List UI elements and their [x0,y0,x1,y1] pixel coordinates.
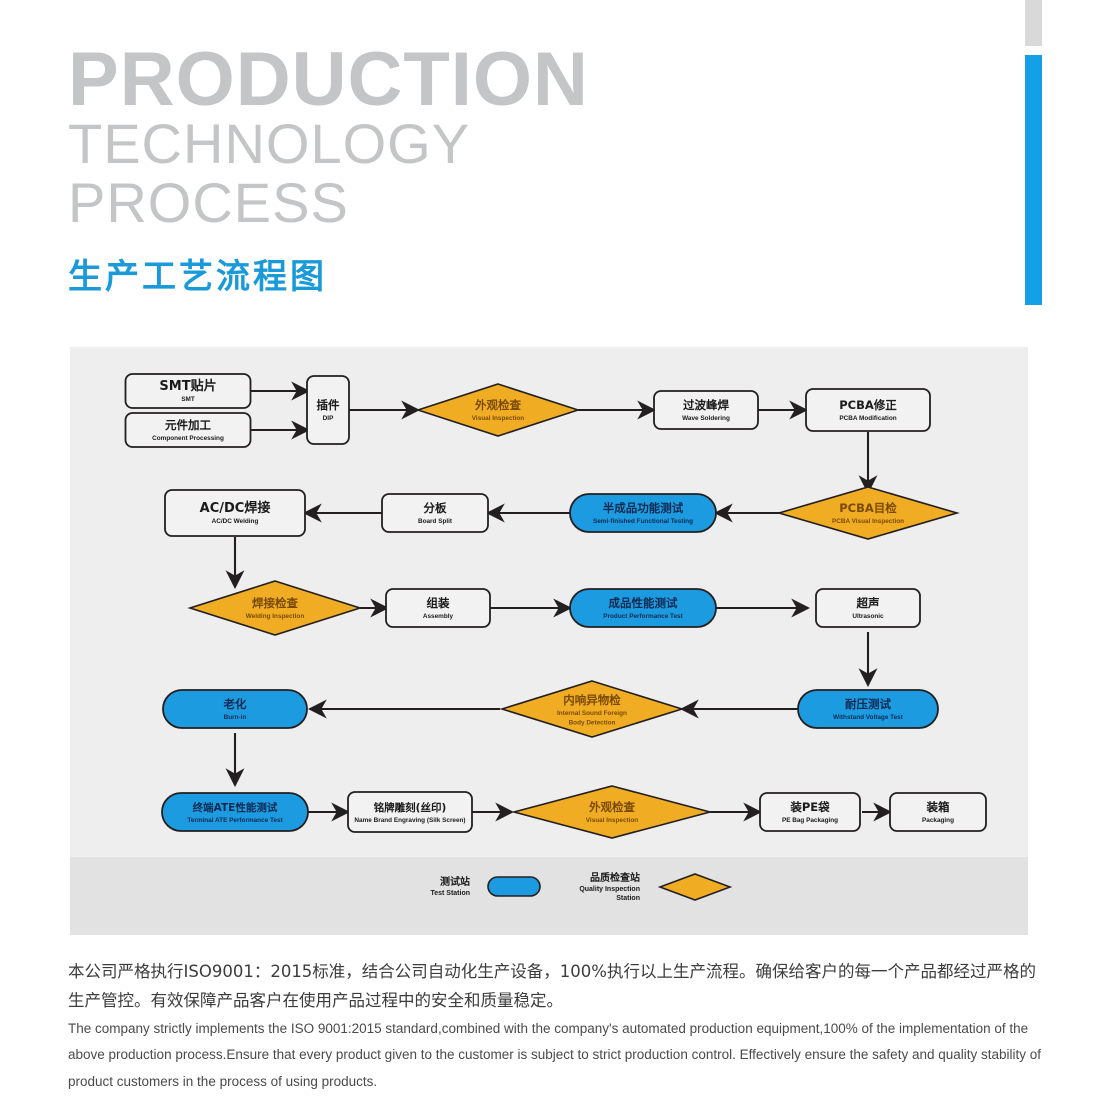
flow-node-packaging[interactable]: 装箱Packaging [890,793,986,831]
flow-node-smt[interactable]: SMT贴片SMT [126,374,251,408]
node-label-cn: 耐压测试 [845,697,891,711]
flow-node-withstand[interactable]: 耐压测试Withstand Voltage Test [798,690,938,728]
node-label-en: Board Split [418,518,453,525]
node-label-en: Packaging [922,817,954,824]
node-label-cn: SMT贴片 [159,378,216,394]
flow-node-ultra[interactable]: 超声Ultrasonic [816,589,920,627]
legend-test-pill [488,877,540,896]
decision-diamond [502,681,682,737]
node-label-en: Visual Inspection [586,817,639,824]
node-label-cn: 组装 [427,596,450,610]
node-label-en: Product Performance Test [603,613,683,620]
node-label-en: SMT [181,396,195,403]
flow-node-visual2[interactable]: 外观检查Visual Inspection [514,786,710,838]
flow-node-pcbavis[interactable]: PCBA目检PCBA Visual Inspection [779,487,957,539]
flow-node-semifunc[interactable]: 半成品功能测试Semi-finished Functional Testing [570,494,716,532]
flow-node-dip[interactable]: 插件DIP [307,376,349,444]
flow-node-assembly[interactable]: 组装Assembly [386,589,490,627]
flow-node-ate[interactable]: 终端ATE性能测试Terminal ATE Performance Test [162,793,308,831]
node-label-en: Name Brand Engraving (Silk Screen) [354,817,465,824]
flow-node-pebag[interactable]: 装PE袋PE Bag Packaging [760,793,860,831]
legend-nodes: 测试站Test Station品质检查站Quality InspectionSt… [430,871,730,902]
flow-node-engrave[interactable]: 铭牌雕刻(丝印)Name Brand Engraving (Silk Scree… [348,792,472,832]
node-label-cn: 内响异物检 [563,693,621,707]
legend-label-en: Station [616,895,640,902]
node-label-cn: 超声 [856,596,880,610]
node-label-en: PE Bag Packaging [782,817,838,824]
heading-subtitle-chinese: 生产工艺流程图 [68,249,968,298]
legend-label-en: Test Station [430,890,470,897]
flow-node-pcbamod[interactable]: PCBA修正PCBA Modification [806,389,930,431]
flow-node-visual1[interactable]: 外观检查Visual Inspection [418,384,578,436]
flow-node-boardsplit[interactable]: 分板Board Split [382,494,488,532]
node-label-en: PCBA Visual Inspection [832,518,904,525]
node-label-cn: 外观检查 [474,398,521,412]
node-label-en: Visual Inspection [472,415,525,422]
node-label-en: Burn-in [224,714,247,721]
node-label-en: Internal Sound Foreign [557,710,627,717]
node-label-cn: 焊接检查 [252,596,298,610]
node-label-cn: 外观检查 [588,800,635,814]
node-label-en: DIP [323,415,334,422]
node-label-en: Welding Inspection [246,613,305,620]
node-label-cn: 装箱 [926,800,950,814]
node-label-en: Semi-finished Functional Testing [593,518,693,525]
node-label-en: Wave Soldering [682,415,730,422]
node-label-en: Ultrasonic [852,613,884,620]
node-label-cn: 铭牌雕刻(丝印) [374,801,447,814]
legend-label-cn: 测试站 [440,875,470,888]
page-heading: PRODUCTION TECHNOLOGY PROCESS 生产工艺流程图 [68,45,968,298]
node-label-cn: PCBA修正 [839,398,897,412]
node-label-en: Assembly [423,613,454,620]
legend-label-en: Quality Inspection [579,886,640,893]
flowchart-svg: SMT贴片SMT元件加工Component Processing插件DIP外观检… [70,347,1028,935]
flow-node-perf[interactable]: 成品性能测试Product Performance Test [570,589,716,627]
node-label-cn: 成品性能测试 [609,596,678,610]
accent-bar-gray [1025,0,1042,46]
flow-node-burnin[interactable]: 老化Burn-in [163,690,307,728]
node-label-en: Withstand Voltage Test [833,714,904,721]
node-label-cn: 终端ATE性能测试 [193,801,278,814]
legend-decision-diamond [660,874,730,900]
flow-node-wave[interactable]: 过波峰焊Wave Soldering [654,391,758,429]
node-label-en: Component Processing [152,435,224,442]
node-label-cn: 插件 [317,398,340,412]
flow-node-welding[interactable]: 焊接检查Welding Inspection [190,581,360,635]
node-label-en: PCBA Modification [839,415,896,422]
node-label-en: Terminal ATE Performance Test [187,817,283,824]
node-label-cn: 半成品功能测试 [603,501,684,515]
node-label-cn: AC/DC焊接 [200,500,271,516]
heading-line-process: PROCESS [68,174,968,233]
node-label-cn: 元件加工 [165,418,211,432]
node-label-cn: 老化 [223,697,247,711]
flow-node-foreign[interactable]: 内响异物检Internal Sound ForeignBody Detectio… [502,681,682,737]
heading-line-technology: TECHNOLOGY [68,115,968,174]
footer-paragraph-chinese: 本公司严格执行ISO9001：2015标准，结合公司自动化生产设备，100%执行… [68,958,1050,1016]
node-label-en: Body Detection [569,720,616,727]
flow-node-component[interactable]: 元件加工Component Processing [126,413,251,447]
accent-bar-blue [1025,55,1042,305]
legend-item-quality-station: 品质检查站Quality InspectionStation [579,871,730,902]
node-label-cn: PCBA目检 [839,501,897,515]
legend-label-cn: 品质检查站 [590,871,640,884]
footer-paragraph-english: The company strictly implements the ISO … [68,1016,1050,1095]
flow-node-acdc[interactable]: AC/DC焊接AC/DC Welding [165,490,305,536]
flowchart-nodes: SMT贴片SMT元件加工Component Processing插件DIP外观检… [126,374,987,838]
node-label-en: AC/DC Welding [212,518,259,525]
legend-item-test-station: 测试站Test Station [430,875,540,897]
node-label-cn: 分板 [424,501,447,515]
node-label-cn: 过波峰焊 [683,398,729,412]
node-label-cn: 装PE袋 [789,800,830,814]
heading-line-production: PRODUCTION [68,45,968,115]
